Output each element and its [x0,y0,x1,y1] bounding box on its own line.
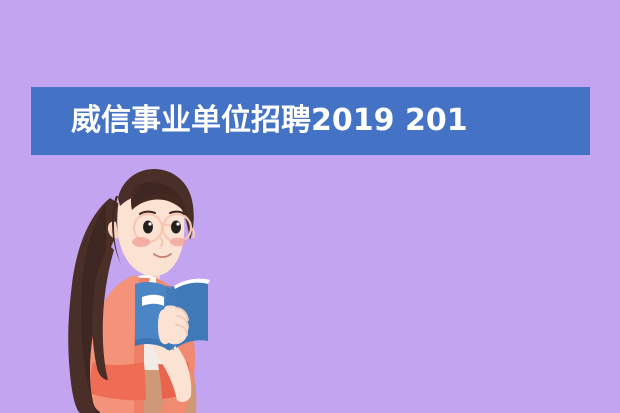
woman-reading-book-illustration [48,158,238,413]
title-banner: 威信事业单位招聘2019 201 [31,87,590,155]
slide-canvas: 威信事业单位招聘2019 201 [0,0,620,413]
woman-reading-book-icon [48,158,238,413]
page-title: 威信事业单位招聘2019 201 [71,106,468,136]
